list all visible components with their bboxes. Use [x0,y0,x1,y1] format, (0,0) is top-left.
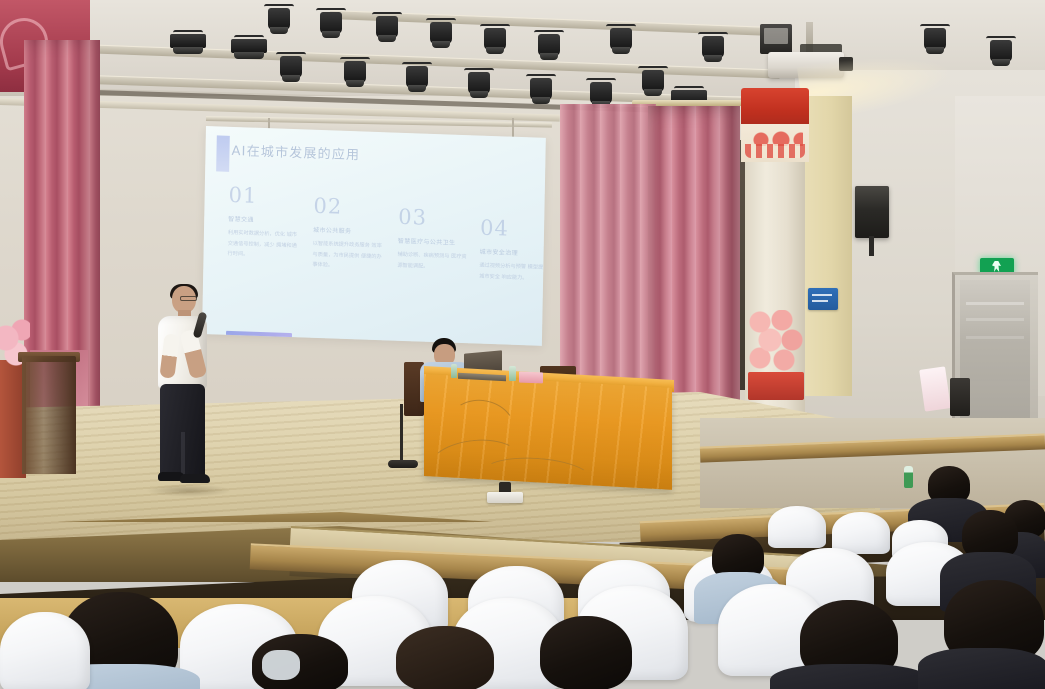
hall-door-glass [960,280,1030,428]
wall-speaker [855,186,889,238]
name-placard [519,372,543,384]
slide-column: 04 城市安全治理 通过视频分析与预警 模型提升城市安全 响应能力。 [479,216,546,285]
stage-light-icon [528,72,554,106]
stage-light-icon [428,16,454,50]
stage-light-icon [342,55,368,89]
stage-light-icon [266,2,292,36]
house-back-wall [700,418,1045,508]
slide-column: 02 城市公共服务 以智能系统提升政务服务 效率与质量，为市民提供 便捷的办事体… [312,194,387,274]
stage-light-icon [466,66,492,100]
stage-light-icon [482,22,508,56]
slide-column: 03 智慧医疗与公共卫生 辅助诊断、疾病预测与 医疗资源智能调配。 [397,205,472,274]
stage-light-icon [374,10,400,44]
water-bottle-on-rail [904,466,913,488]
slide-column-body: 以智能系统提升政务服务 效率与质量，为市民提供 便捷的办事体验。 [312,239,387,274]
slide-column-heading: 城市公共服务 [313,225,387,237]
seat-cover [0,612,90,689]
stage-light-icon [318,6,344,40]
slide-column-heading: 城市安全治理 [480,247,546,259]
audience-shoulders [918,648,1045,689]
presenter-shoe [180,474,210,483]
glasses-icon [180,296,197,301]
slide-column-body: 辅助诊断、疾病预测与 医疗资源智能调配。 [397,250,471,274]
stage-light-icon [404,60,430,94]
slide-column-number: 03 [398,205,472,232]
slide-column-number: 01 [228,183,302,210]
dark-box-object [950,378,970,416]
slide-column-heading: 智慧医疗与公共卫生 [398,236,472,248]
audience-head [396,626,494,689]
slide-column-number: 02 [313,194,387,221]
slide-title: AI在城市发展的应用 [231,140,360,163]
face-mask [262,650,300,680]
slide-column-heading: 智慧交通 [228,214,302,226]
slide-column-body: 通过视频分析与预警 模型提升城市安全 响应能力。 [479,261,546,285]
audience-shoulders [770,664,930,689]
slide-column-number: 04 [480,216,546,243]
stage-light-icon [608,22,634,56]
slide-column: 01 智慧交通 利用实时数据分析，优化 城市交通信号控制，减少 拥堵和通行时间。 [227,183,302,263]
pillar-ornament [741,124,809,162]
projection-screen: AI在城市发展的应用 01 智慧交通 利用实时数据分析，优化 城市交通信号控制，… [202,126,546,346]
stage-light-icon [175,28,201,62]
pompom-planter [748,372,804,400]
audience-head [540,616,632,689]
water-bottle [509,366,516,381]
seat-cover [832,512,890,554]
power-strip [487,492,523,503]
speaker-mount [869,236,874,256]
water-bottle [451,364,457,378]
seat-cover [768,506,826,548]
microphone-stand-base [388,460,418,468]
podium [22,356,76,474]
presenter-trousers [160,384,205,476]
slide-columns: 01 智慧交通 利用实时数据分析，优化 城市交通信号控制，减少 拥堵和通行时间。… [229,183,529,193]
wall-monitor-box [760,24,792,54]
lecture-hall-photo: AI在城市发展的应用 01 智慧交通 利用实时数据分析，优化 城市交通信号控制，… [0,0,1045,689]
stage-light-icon [640,64,666,98]
presenter-speaker [152,286,214,494]
wall-notice-sign [808,288,838,310]
slide-column-body: 利用实时数据分析，优化 城市交通信号控制，减少 拥堵和通行时间。 [227,228,302,263]
microphone-stand [400,404,403,462]
slide-title-accent-bar [216,135,230,171]
running-person-icon [992,261,1001,272]
stage-light-icon [278,50,304,84]
stage-light-icon [536,28,562,62]
stage-light-icon [700,30,726,64]
stage-light-icon [236,33,262,67]
stage-light-icon [988,34,1014,68]
pompom-decoration [748,310,804,378]
